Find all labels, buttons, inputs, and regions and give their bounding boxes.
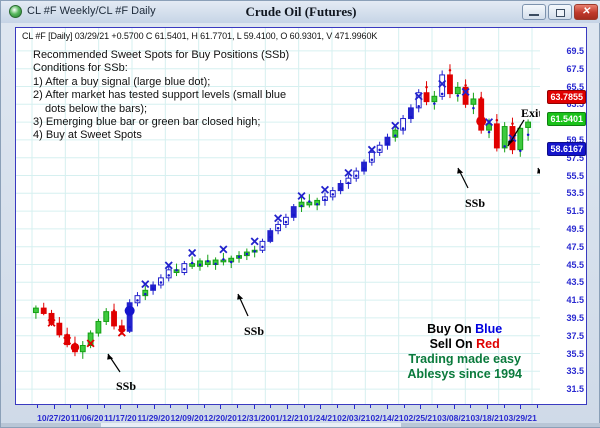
date-tick-minor <box>104 405 105 408</box>
price-tick: 33.5 <box>566 366 584 376</box>
date-tick-minor <box>504 405 505 408</box>
date-tick-label: 12/09/20 <box>170 413 203 423</box>
date-tick-label: 01/24/21 <box>304 413 337 423</box>
promo-sell-word: Red <box>476 337 500 351</box>
date-tick-minor <box>537 405 538 408</box>
date-tick-label: 11/17/20 <box>104 413 137 423</box>
date-tick-minor <box>170 405 171 408</box>
price-tick: 51.5 <box>566 206 584 216</box>
date-tick-label: 03/29/21 <box>504 413 537 423</box>
date-tick-minor <box>237 405 238 408</box>
annotation-ssb-1: SSb <box>116 379 136 394</box>
notes-item-2: dots below the bars); <box>33 103 289 116</box>
price-tick: 43.5 <box>566 277 584 287</box>
promo-buy-word: Blue <box>475 322 502 336</box>
maximize-button[interactable] <box>548 4 572 20</box>
notes-item-4: 4) Buy at Sweet Spots <box>33 129 289 142</box>
date-tick-label: 01/12/21 <box>270 413 303 423</box>
date-axis[interactable]: 10/27/2011/06/2011/17/2011/29/2012/09/20… <box>15 405 587 425</box>
date-tick-minor <box>354 405 355 408</box>
date-tick-label: 02/25/21 <box>404 413 437 423</box>
date-tick-minor <box>37 405 38 408</box>
date-tick-minor <box>320 405 321 408</box>
annotation-ssb-3: SSb <box>465 196 485 211</box>
promo-brand: Ablesys since 1994 <box>407 367 522 382</box>
price-axis[interactable]: 69.567.565.563.561.559.557.555.553.551.5… <box>541 28 587 404</box>
date-tick-minor <box>487 405 488 408</box>
date-tick-minor <box>254 405 255 408</box>
date-tick-minor <box>54 405 55 408</box>
price-tick: 37.5 <box>566 331 584 341</box>
notes-heading: Recommended Sweet Spots for Buy Position… <box>33 49 289 62</box>
notes-item-3: 3) Emerging blue bar or green bar closed… <box>33 116 289 129</box>
date-tick-minor <box>387 405 388 408</box>
window-frame: CL #F Weekly/CL #F Daily Crude Oil (Futu… <box>0 0 600 428</box>
price-tick: 47.5 <box>566 242 584 252</box>
promo-block: Buy On Blue Sell On Red Trading made eas… <box>407 322 522 382</box>
date-tick-label: 02/03/21 <box>337 413 370 423</box>
close-icon: ✕ <box>575 5 597 19</box>
date-tick-minor <box>137 405 138 408</box>
date-tick-minor <box>154 405 155 408</box>
date-tick-minor <box>437 405 438 408</box>
date-tick-label: 11/29/20 <box>137 413 170 423</box>
date-tick-minor <box>287 405 288 408</box>
date-tick-minor <box>304 405 305 408</box>
date-tick-label: 03/08/21 <box>437 413 470 423</box>
scrollbar-thumb[interactable] <box>101 423 401 427</box>
notes-subheading: Conditions for SSb: <box>33 62 289 75</box>
date-tick-minor <box>187 405 188 408</box>
price-tick: 41.5 <box>566 295 584 305</box>
date-tick-label: 03/18/21 <box>470 413 503 423</box>
notes-item-1: 2) After market has tested support level… <box>33 89 289 102</box>
date-tick-label: 11/06/20 <box>71 413 104 423</box>
notes-item-0: 1) After a buy signal (large blue dot); <box>33 76 289 89</box>
date-tick-label: 10/27/20 <box>37 413 70 423</box>
price-tick: 39.5 <box>566 313 584 323</box>
horizontal-scrollbar[interactable] <box>1 423 600 427</box>
date-tick-minor <box>370 405 371 408</box>
date-tick-minor <box>70 405 71 408</box>
date-tick-minor <box>87 405 88 408</box>
chart-panel: CL #F [Daily] 03/29/21 +0.5700 C 61.5401… <box>15 27 587 405</box>
close-button[interactable]: ✕ <box>574 4 598 20</box>
promo-tagline: Trading made easy <box>407 352 522 367</box>
price-marker-2: 58.6167 <box>547 142 586 156</box>
price-tick: 55.5 <box>566 171 584 181</box>
application-window: CL #F Weekly/CL #F Daily Crude Oil (Futu… <box>0 0 600 428</box>
annotation-exit-0: Exit <box>521 106 540 121</box>
quote-readout: CL #F [Daily] 03/29/21 +0.5700 C 61.5401… <box>22 31 377 41</box>
price-tick: 67.5 <box>566 64 584 74</box>
chart-plot-area[interactable]: CL #F [Daily] 03/29/21 +0.5700 C 61.5401… <box>16 28 540 404</box>
price-tick: 53.5 <box>566 188 584 198</box>
date-tick-minor <box>470 405 471 408</box>
title-bar: CL #F Weekly/CL #F Daily Crude Oil (Futu… <box>1 1 600 23</box>
date-tick-minor <box>204 405 205 408</box>
date-tick-minor <box>420 405 421 408</box>
price-marker-1: 61.5401 <box>547 112 586 126</box>
date-tick-minor <box>220 405 221 408</box>
promo-buy-prefix: Buy On <box>427 322 475 336</box>
date-tick-minor <box>270 405 271 408</box>
date-tick-minor <box>337 405 338 408</box>
price-marker-0: 63.7855 <box>547 90 586 104</box>
price-tick: 45.5 <box>566 260 584 270</box>
price-tick: 31.5 <box>566 384 584 394</box>
minimize-button[interactable] <box>522 4 546 20</box>
price-tick: 49.5 <box>566 224 584 234</box>
price-tick: 35.5 <box>566 349 584 359</box>
promo-sell-prefix: Sell On <box>430 337 477 351</box>
annotation-ssb-2: SSb <box>244 324 264 339</box>
date-tick-label: 12/20/20 <box>204 413 237 423</box>
date-tick-minor <box>454 405 455 408</box>
date-tick-minor <box>520 405 521 408</box>
promo-line-sell: Sell On Red <box>407 337 522 352</box>
date-tick-minor <box>120 405 121 408</box>
promo-line-buy: Buy On Blue <box>407 322 522 337</box>
date-tick-label: 12/31/20 <box>237 413 270 423</box>
date-tick-label: 02/14/21 <box>370 413 403 423</box>
price-tick: 69.5 <box>566 46 584 56</box>
strategy-notes: Recommended Sweet Spots for Buy Position… <box>33 49 289 143</box>
window-title: Crude Oil (Futures) <box>1 4 600 20</box>
date-tick-minor <box>404 405 405 408</box>
